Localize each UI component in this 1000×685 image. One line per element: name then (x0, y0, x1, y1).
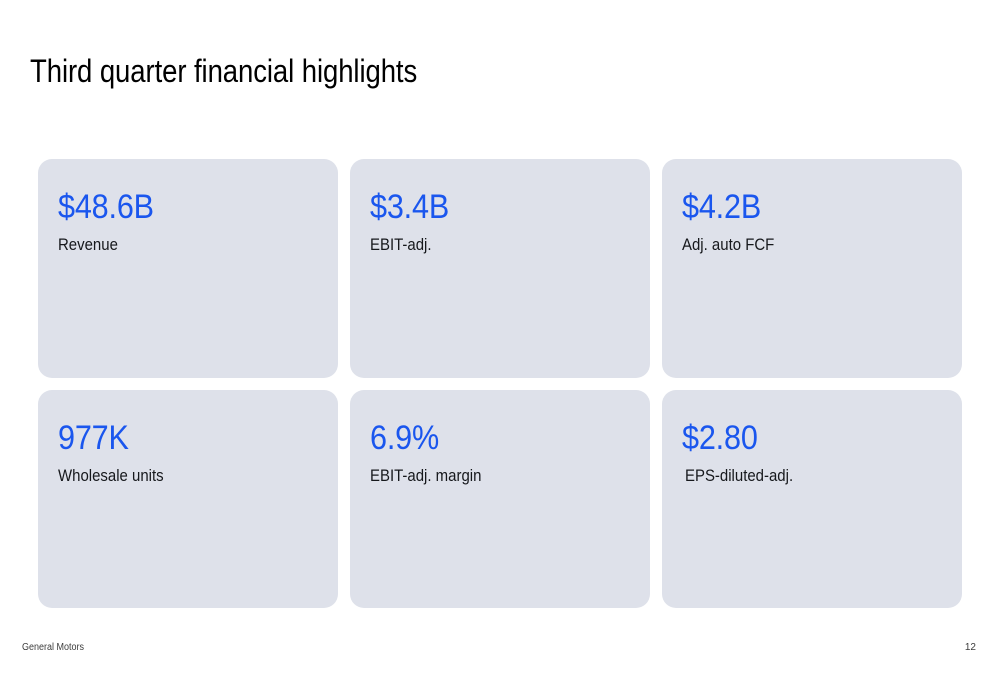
stat-card-ebit-adj: $3.4B EBIT-adj. (350, 159, 650, 378)
page-title: Third quarter financial highlights (30, 49, 417, 93)
stat-card-adj-auto-fcf: $4.2B Adj. auto FCF (662, 159, 962, 378)
stat-label: EPS-diluted-adj. (685, 464, 911, 488)
stat-value: 6.9% (370, 418, 604, 458)
stat-label: Revenue (58, 233, 287, 257)
footer-page-number: 12 (965, 641, 976, 655)
stat-label: Wholesale units (58, 464, 287, 488)
stat-label: EBIT-adj. margin (370, 464, 599, 488)
stat-value: 977K (58, 418, 292, 458)
footer-brand: General Motors (22, 641, 84, 655)
stat-value: $4.2B (682, 187, 916, 227)
stat-card-wholesale-units: 977K Wholesale units (38, 390, 338, 609)
stat-value: $3.4B (370, 187, 604, 227)
highlights-card-grid: $48.6B Revenue $3.4B EBIT-adj. $4.2B Adj… (38, 159, 962, 608)
stat-value: $48.6B (58, 187, 292, 227)
stat-card-eps-diluted-adj: $2.80 EPS-diluted-adj. (662, 390, 962, 609)
stat-value: $2.80 (682, 418, 916, 458)
stat-label: EBIT-adj. (370, 233, 599, 257)
stat-label: Adj. auto FCF (682, 233, 911, 257)
stat-card-revenue: $48.6B Revenue (38, 159, 338, 378)
slide-canvas: Third quarter financial highlights $48.6… (0, 0, 1000, 685)
stat-card-ebit-adj-margin: 6.9% EBIT-adj. margin (350, 390, 650, 609)
